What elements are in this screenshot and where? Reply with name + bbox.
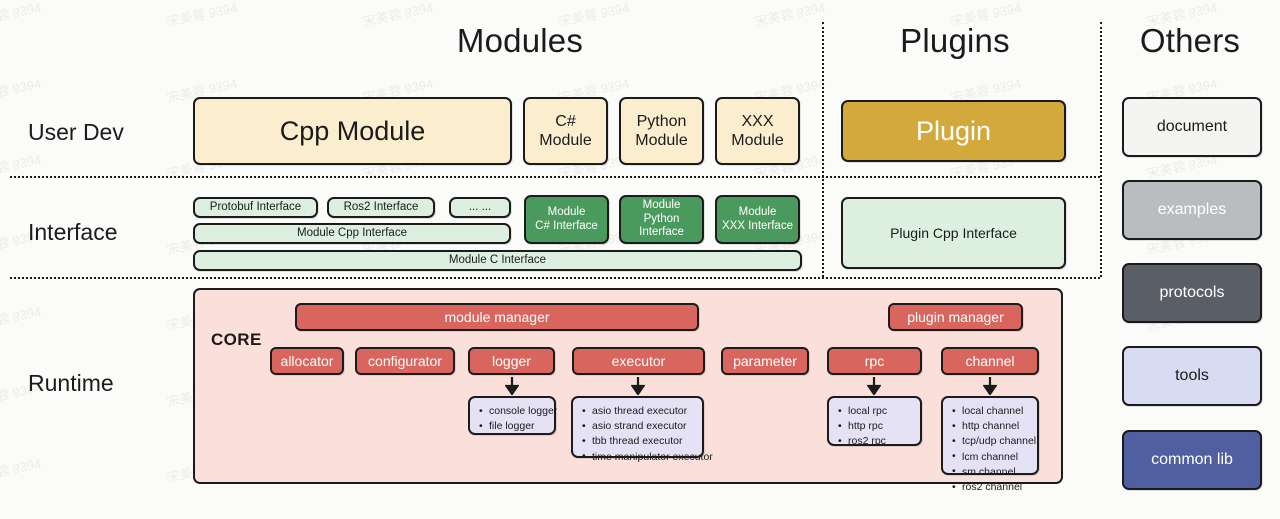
watermark-text: 宋美蓉 9394: [0, 453, 43, 486]
core-plugin-manager[interactable]: plugin manager: [888, 303, 1023, 331]
core-channel[interactable]: channel: [941, 347, 1039, 375]
plugin-box[interactable]: Plugin: [841, 100, 1066, 162]
core-module-manager[interactable]: module manager: [295, 303, 699, 331]
module-xxx[interactable]: XXX Module: [715, 97, 800, 165]
interface-module-csharp[interactable]: Module C# Interface: [524, 195, 609, 244]
detail-channel: local channelhttp channeltcp/udp channel…: [941, 396, 1039, 475]
module-xxx-line2: Module: [731, 131, 783, 150]
core-logger[interactable]: logger: [468, 347, 555, 375]
watermark-text: 宋美蓉 9394: [0, 0, 43, 30]
divider-interface-runtime: [10, 277, 1100, 279]
core-allocator[interactable]: allocator: [270, 347, 344, 375]
watermark-text: 宋美蓉 9394: [753, 0, 827, 30]
list-item: http rpc: [848, 419, 912, 434]
other-protocols[interactable]: protocols: [1122, 263, 1262, 323]
list-item: file logger: [489, 419, 546, 434]
interface-module-cpp[interactable]: Module Cpp Interface: [193, 223, 511, 244]
other-examples[interactable]: examples: [1122, 180, 1262, 240]
list-item: sm channel: [962, 465, 1029, 480]
detail-rpc: local rpchttp rpcros2 rpc: [827, 396, 922, 446]
core-parameter[interactable]: parameter: [721, 347, 809, 375]
module-python-line2: Module: [635, 131, 687, 150]
divider-userdev-interface: [10, 176, 1100, 178]
interface-module-python-line1: Module: [643, 199, 681, 213]
arrow-down-icon-executor: [631, 377, 645, 395]
interface-module-c[interactable]: Module C Interface: [193, 250, 802, 271]
interface-module-csharp-line2: C# Interface: [535, 220, 598, 234]
watermark-text: 宋美蓉 9394: [0, 73, 43, 106]
architecture-diagram: 宋美蓉 9394宋美蓉 9394宋美蓉 9394宋美蓉 9394宋美蓉 9394…: [0, 0, 1280, 519]
interface-more[interactable]: ... ...: [449, 197, 511, 218]
watermark-text: 宋美蓉 9394: [165, 0, 239, 30]
module-python-line1: Python: [637, 112, 687, 131]
list-item: console logger: [489, 404, 546, 419]
interface-module-xxx-line2: XXX Interface: [722, 220, 793, 234]
detail-executor-list: asio thread executorasio strand executor…: [579, 404, 694, 465]
column-header-others: Others: [1105, 22, 1275, 60]
arrow-down-icon-rpc: [867, 377, 881, 395]
detail-logger-list: console loggerfile logger: [476, 404, 546, 434]
module-xxx-line1: XXX: [741, 112, 773, 131]
module-csharp[interactable]: C# Module: [523, 97, 608, 165]
arrow-down-icon-channel: [983, 377, 997, 395]
arrow-down-icon-logger: [505, 377, 519, 395]
module-cpp[interactable]: Cpp Module: [193, 97, 512, 165]
row-label-interface: Interface: [28, 219, 118, 246]
list-item: ros2 channel: [962, 480, 1029, 495]
detail-executor: asio thread executorasio strand executor…: [571, 396, 704, 458]
list-item: tcp/udp channel: [962, 434, 1029, 449]
core-label: CORE: [211, 330, 262, 350]
other-tools[interactable]: tools: [1122, 346, 1262, 406]
divider-plugins-others: [1100, 22, 1102, 277]
core-configurator[interactable]: configurator: [355, 347, 455, 375]
interface-ros2[interactable]: Ros2 Interface: [327, 197, 435, 218]
column-header-modules: Modules: [405, 22, 635, 60]
detail-rpc-list: local rpchttp rpcros2 rpc: [835, 404, 912, 450]
interface-protobuf[interactable]: Protobuf Interface: [193, 197, 318, 218]
interface-module-xxx[interactable]: Module XXX Interface: [715, 195, 800, 244]
interface-module-xxx-line1: Module: [739, 206, 777, 220]
divider-modules-plugins: [822, 22, 824, 277]
interface-plugin-cpp[interactable]: Plugin Cpp Interface: [841, 197, 1066, 269]
list-item: http channel: [962, 419, 1029, 434]
list-item: local channel: [962, 404, 1029, 419]
column-header-plugins: Plugins: [845, 22, 1065, 60]
list-item: local rpc: [848, 404, 912, 419]
list-item: asio thread executor: [592, 404, 694, 419]
other-document[interactable]: document: [1122, 97, 1262, 157]
module-csharp-line2: Module: [539, 131, 591, 150]
core-executor[interactable]: executor: [572, 347, 705, 375]
interface-module-python-line2: Python Interface: [621, 213, 702, 241]
interface-module-csharp-line1: Module: [548, 206, 586, 220]
interface-module-python[interactable]: Module Python Interface: [619, 195, 704, 244]
core-rpc[interactable]: rpc: [827, 347, 922, 375]
detail-logger: console loggerfile logger: [468, 396, 556, 435]
other-common-lib[interactable]: common lib: [1122, 430, 1262, 490]
watermark-text: 宋美蓉 9394: [0, 301, 43, 334]
list-item: lcm channel: [962, 450, 1029, 465]
module-csharp-line1: C#: [555, 112, 575, 131]
row-label-user-dev: User Dev: [28, 119, 124, 146]
list-item: asio strand executor: [592, 419, 694, 434]
list-item: ros2 rpc: [848, 434, 912, 449]
row-label-runtime: Runtime: [28, 370, 114, 397]
detail-channel-list: local channelhttp channeltcp/udp channel…: [949, 404, 1029, 495]
list-item: time manipulator executor: [592, 450, 694, 465]
module-python[interactable]: Python Module: [619, 97, 704, 165]
list-item: tbb thread executor: [592, 434, 694, 449]
